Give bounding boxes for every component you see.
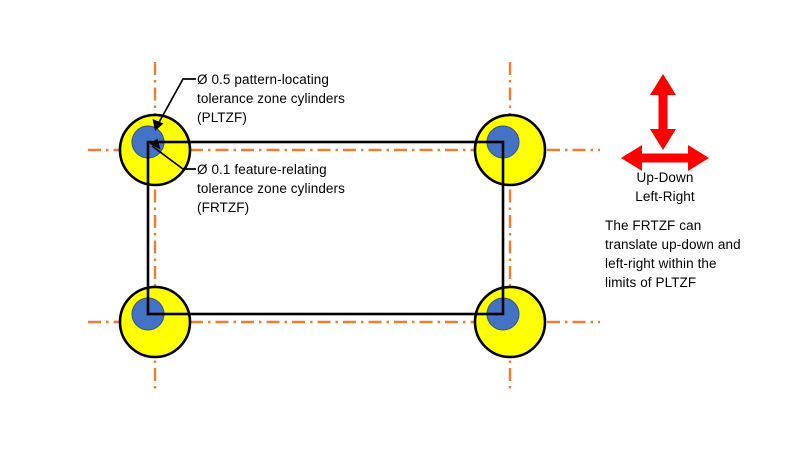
left-right-arrow-shaft: [636, 154, 692, 163]
up-down-arrow: [650, 74, 676, 150]
frtzf-callout-text: Ø 0.1 feature-relating tolerance zone cy…: [197, 160, 345, 217]
motion-arrow-caption: Up-Down Left-Right: [620, 168, 710, 206]
diagram-canvas: Ø 0.5 pattern-locating tolerance zone cy…: [0, 0, 800, 451]
up-down-arrow-shaft: [659, 88, 668, 136]
up-down-arrow-head-down: [650, 129, 676, 150]
motion-arrow-group: [621, 74, 709, 171]
pltzf-zone-group: [120, 115, 545, 357]
pltzf-callout-text: Ø 0.5 pattern-locating tolerance zone cy…: [197, 70, 345, 127]
up-down-arrow-head-up: [650, 74, 676, 95]
frtzf-explanation-note: The FRTZF can translate up-down and left…: [605, 216, 741, 292]
